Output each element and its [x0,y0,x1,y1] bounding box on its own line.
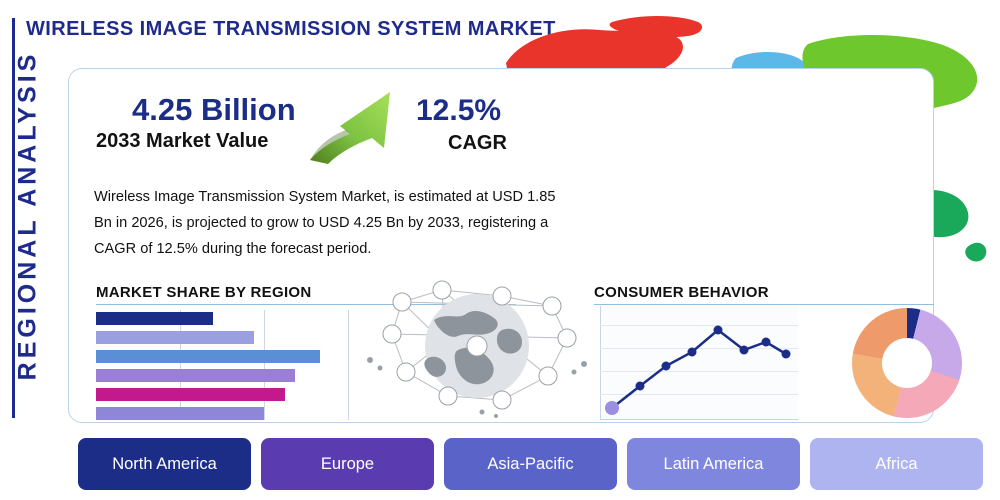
cagr-caption: CAGR [448,132,507,155]
consumer-behavior-rule [594,304,934,305]
market-value-caption: 2033 Market Value [96,130,268,153]
bar-north-america [96,312,213,325]
infographic-root: REGIONAL ANALYSIS WIRELESS IMAGE TRANSMI… [0,0,1000,500]
consumer-behavior-line-chart [600,306,798,420]
bar-asia-pacific [96,350,320,363]
cagr-value: 12.5% [416,94,501,128]
growth-arrow-icon [306,86,411,166]
description-text: Wireless Image Transmission System Marke… [94,184,574,262]
bar-africa [96,388,285,401]
region-button-europe[interactable]: Europe [261,438,434,490]
market-share-heading: MARKET SHARE BY REGION [96,284,312,301]
network-globe-icon [362,272,592,420]
region-button-asia-pacific[interactable]: Asia-Pacific [444,438,617,490]
side-label-text: REGIONAL ANALYSIS [14,50,43,380]
bar-latin-america [96,369,295,382]
region-button-latin-america[interactable]: Latin America [627,438,800,490]
region-button-group: North America Europe Asia-Pacific Latin … [78,438,983,490]
bar-europe [96,331,254,344]
consumer-behavior-heading: CONSUMER BEHAVIOR [594,284,769,301]
market-value: 4.25 Billion [132,92,296,128]
headline-block: 4.25 Billion 2033 Market Value 12.5% CAG… [96,92,566,172]
donut-hole [882,338,932,388]
market-share-bar-chart [96,310,350,420]
page-title: WIRELESS IMAGE TRANSMISSION SYSTEM MARKE… [26,18,556,41]
side-label: REGIONAL ANALYSIS [0,0,58,430]
region-button-africa[interactable]: Africa [810,438,983,490]
bar-middle-east [96,407,264,420]
region-button-north-america[interactable]: North America [78,438,251,490]
